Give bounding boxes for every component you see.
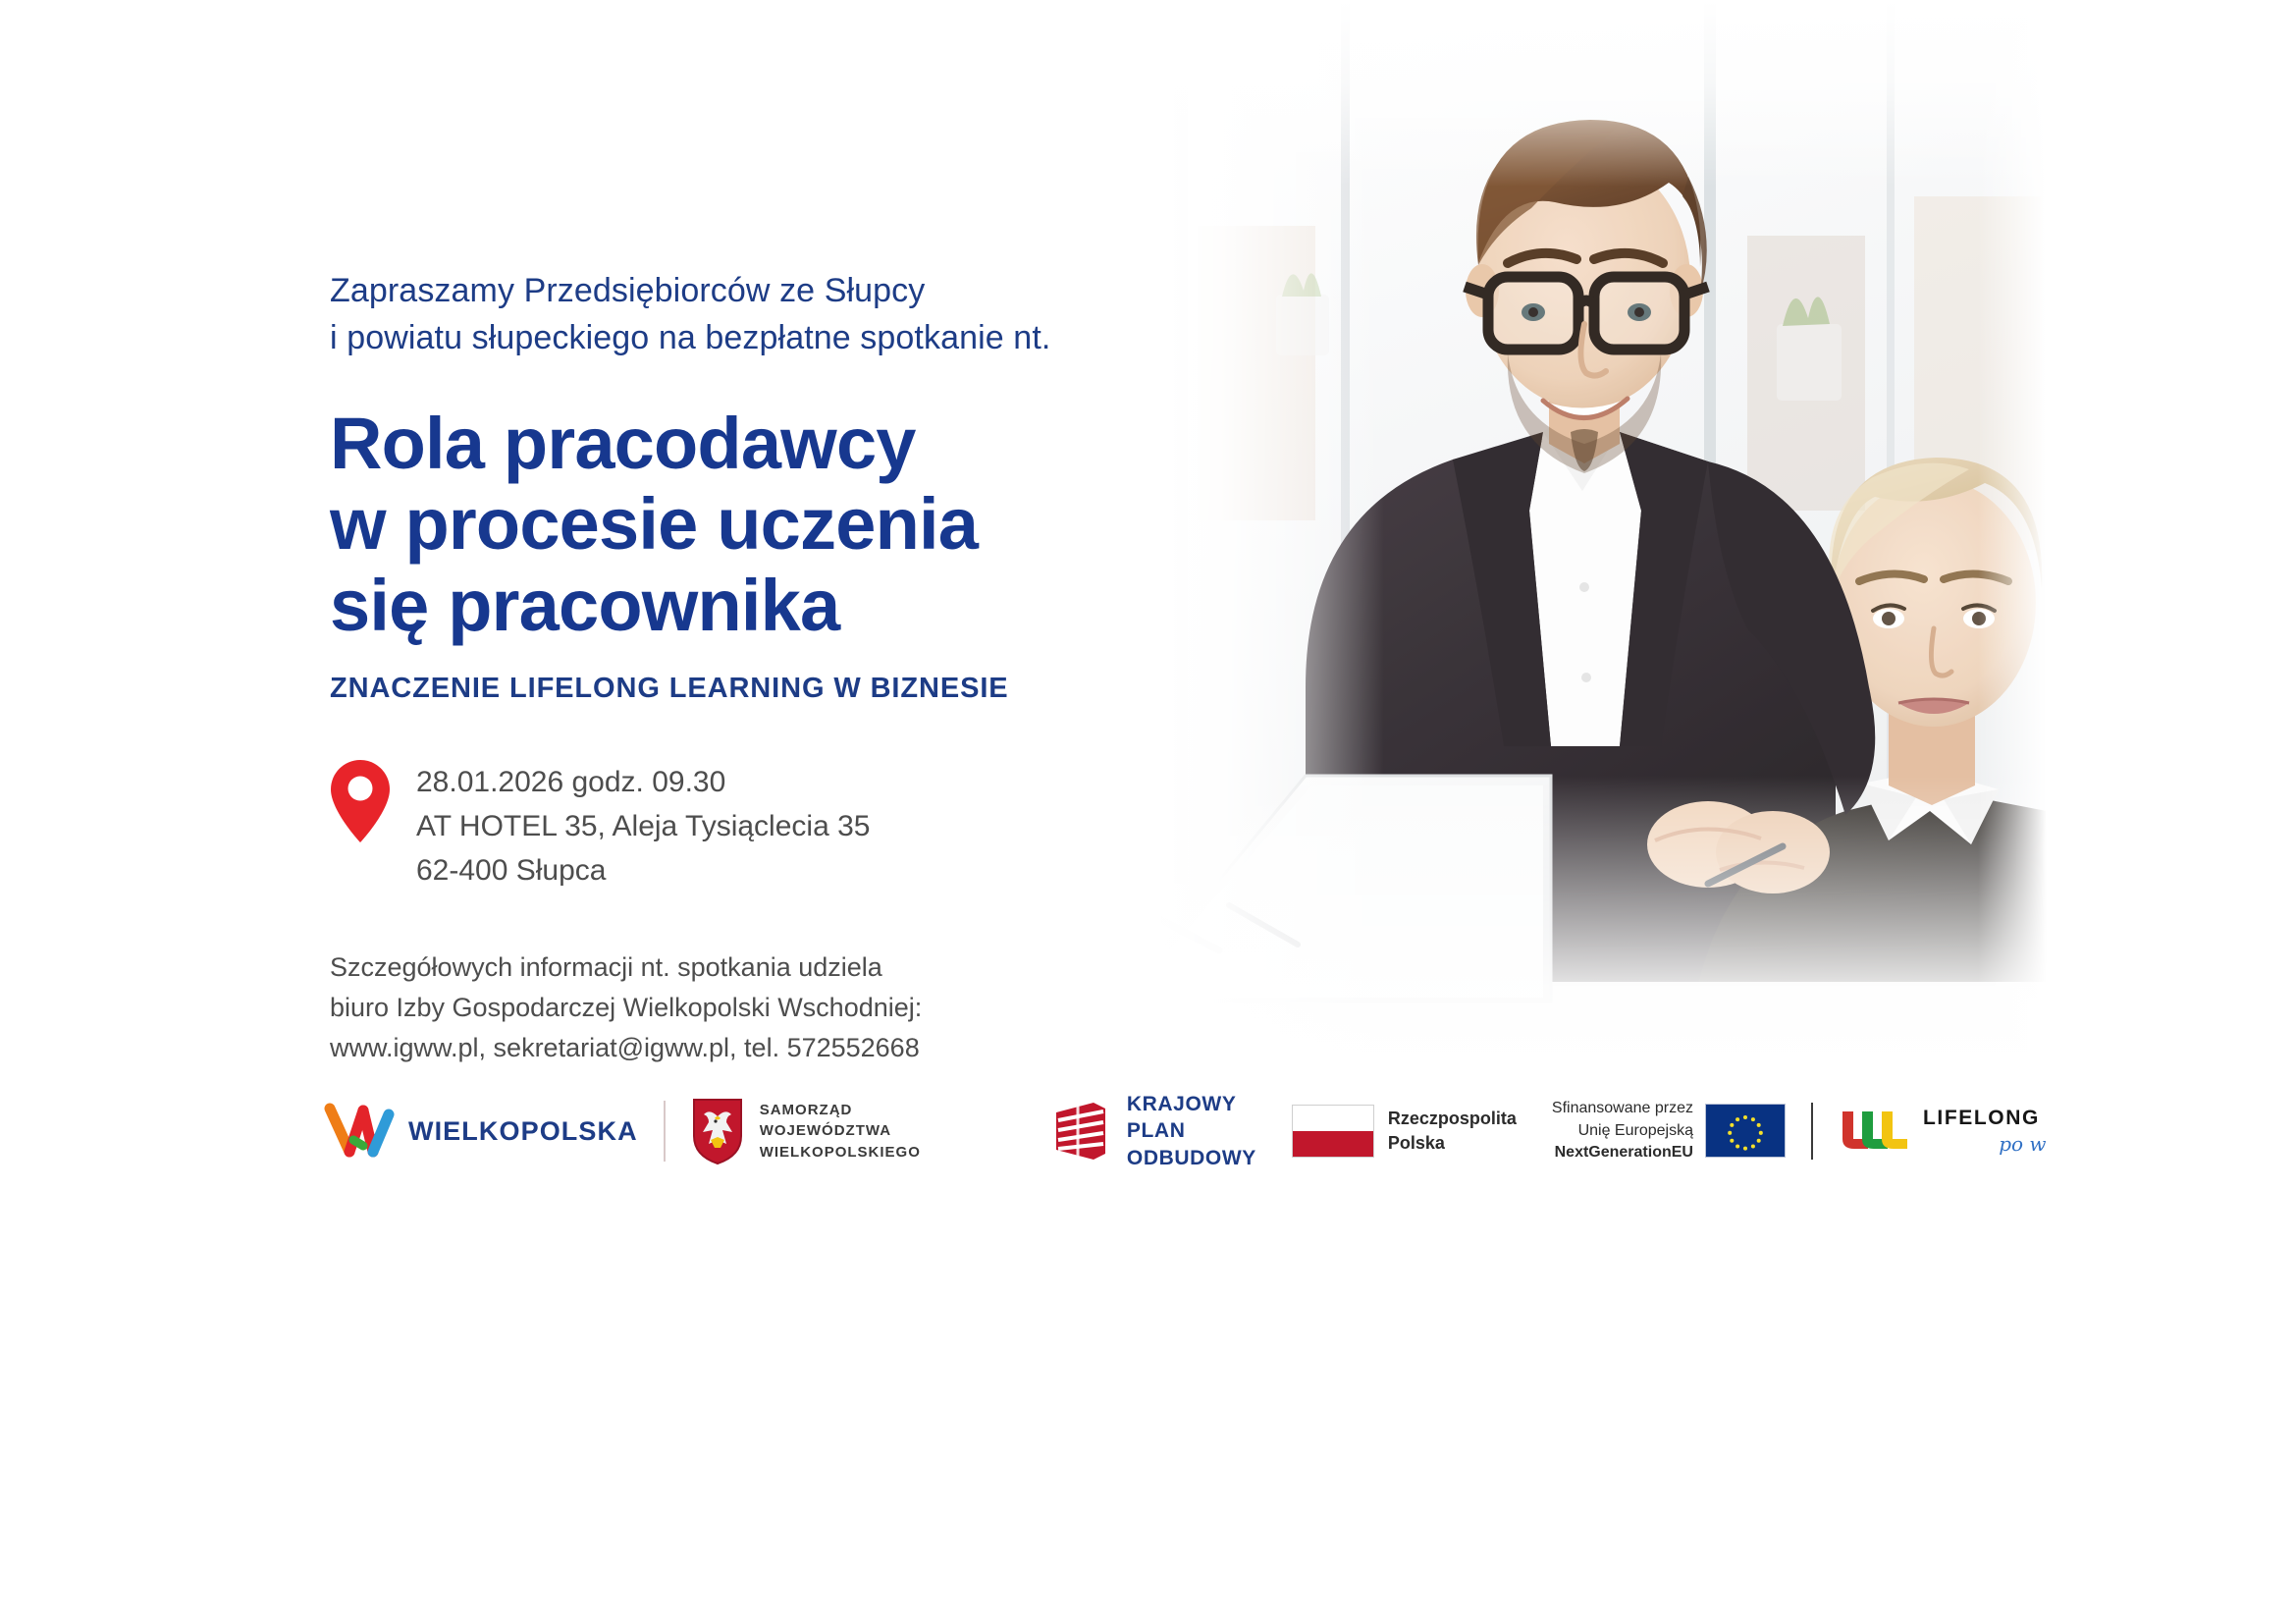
- contact-line-3[interactable]: www.igww.pl, sekretariat@igww.pl, tel. 5…: [330, 1028, 1194, 1068]
- event-datetime: 28.01.2026 godz. 09.30: [416, 760, 870, 804]
- lifelong-learning-tagline: po wielkopolsku!: [1923, 1132, 2047, 1156]
- headline-line-2: w procesie uczenia: [330, 484, 1194, 566]
- rp-line-1: Rzeczpospolita: [1388, 1109, 1517, 1128]
- event-venue: AT HOTEL 35, Aleja Tysiąclecia 35: [416, 804, 870, 848]
- headline-line-3: się pracownika: [330, 566, 1194, 647]
- lifelong-learning-wordmark: LIFELONG LEARNING po wielkopolsku!: [1923, 1107, 2047, 1156]
- samorzad-line-2: WOJEWÓDZTWA: [760, 1122, 891, 1139]
- logo-wielkopolska: WIELKOPOLSKA: [324, 1101, 638, 1162]
- map-pin-icon: [330, 758, 391, 844]
- wielkopolska-wordmark: WIELKOPOLSKA: [408, 1116, 638, 1147]
- wielkopolska-w-icon: [324, 1101, 395, 1162]
- contact-block: Szczegółowych informacji nt. spotkania u…: [330, 947, 1194, 1068]
- contact-line-2: biuro Izby Gospodarczej Wielkopolski Wsc…: [330, 988, 1194, 1028]
- logo-samorzad: SAMORZĄD WOJEWÓDZTWA WIELKOPOLSKIEGO: [691, 1097, 921, 1165]
- rp-line-2: Polska: [1388, 1133, 1445, 1153]
- eu-line-1: Sfinansowane przez: [1552, 1100, 1693, 1116]
- kpo-line-1: KRAJOWY: [1127, 1093, 1237, 1115]
- page-title: Rola pracodawcy w procesie uczenia się p…: [330, 404, 1194, 648]
- logo-strip: WIELKOPOLSKA SAMORZĄD WOJEWÓDZTWA: [324, 1078, 1973, 1184]
- kpo-line-3: ODBUDOWY: [1127, 1147, 1256, 1169]
- kpo-wordmark: KRAJOWY PLAN ODBUDOWY: [1127, 1091, 1256, 1171]
- lifelong-learning-title: LIFELONG LEARNING: [1923, 1107, 2047, 1129]
- eu-flag-icon: [1705, 1104, 1786, 1158]
- event-city: 62-400 Słupca: [416, 848, 870, 893]
- flag-red-band: [1293, 1131, 1373, 1157]
- logo-kpo: KRAJOWY PLAN ODBUDOWY: [1048, 1091, 1256, 1171]
- kpo-building-icon: [1048, 1099, 1113, 1164]
- samorzad-line-3: WIELKOPOLSKIEGO: [760, 1144, 921, 1161]
- logo-eu-funding: Sfinansowane przez Unię Europejską NextG…: [1552, 1098, 1786, 1164]
- event-lines: 28.01.2026 godz. 09.30 AT HOTEL 35, Alej…: [416, 756, 870, 893]
- kpo-line-2: PLAN: [1127, 1119, 1186, 1142]
- event-details: 28.01.2026 godz. 09.30 AT HOTEL 35, Alej…: [330, 756, 1194, 893]
- subtitle: ZNACZENIE LIFELONG LEARNING W BIZNESIE: [330, 673, 1194, 705]
- eu-line-3: NextGenerationEU: [1555, 1144, 1693, 1161]
- poland-flag-icon: [1292, 1105, 1374, 1158]
- eu-line-2: Unię Europejską: [1578, 1122, 1693, 1139]
- logo-rzeczpospolita: Rzeczpospolita Polska: [1292, 1105, 1517, 1158]
- lifelong-learning-l-icon: [1839, 1106, 1913, 1157]
- poster-card: Zapraszamy Przedsiębiorców ze Słupcy i p…: [0, 0, 2047, 1208]
- poster-canvas: Zapraszamy Przedsiębiorców ze Słupcy i p…: [0, 0, 2296, 1624]
- hero-photo: [1158, 0, 2047, 1100]
- intro-line-1: Zapraszamy Przedsiębiorców ze Słupcy: [330, 267, 1194, 314]
- intro-paragraph: Zapraszamy Przedsiębiorców ze Słupcy i p…: [330, 267, 1194, 362]
- logo-lifelong-learning: LIFELONG LEARNING po wielkopolsku!: [1839, 1106, 2047, 1157]
- logo-divider-2: [1811, 1103, 1813, 1160]
- logo-divider-1: [664, 1101, 666, 1162]
- intro-line-2: i powiatu słupeckiego na bezpłatne spotk…: [330, 314, 1194, 361]
- eu-funding-wordmark: Sfinansowane przez Unię Europejską NextG…: [1552, 1098, 1693, 1164]
- contact-line-1: Szczegółowych informacji nt. spotkania u…: [330, 947, 1194, 988]
- samorzad-line-1: SAMORZĄD: [760, 1102, 853, 1118]
- flag-white-band: [1293, 1106, 1373, 1131]
- rzeczpospolita-wordmark: Rzeczpospolita Polska: [1388, 1107, 1517, 1156]
- poster-text-block: Zapraszamy Przedsiębiorców ze Słupcy i p…: [330, 267, 1194, 1068]
- headline-line-1: Rola pracodawcy: [330, 404, 1194, 485]
- wielkopolska-eagle-shield-icon: [691, 1097, 744, 1165]
- samorzad-wordmark: SAMORZĄD WOJEWÓDZTWA WIELKOPOLSKIEGO: [760, 1100, 921, 1163]
